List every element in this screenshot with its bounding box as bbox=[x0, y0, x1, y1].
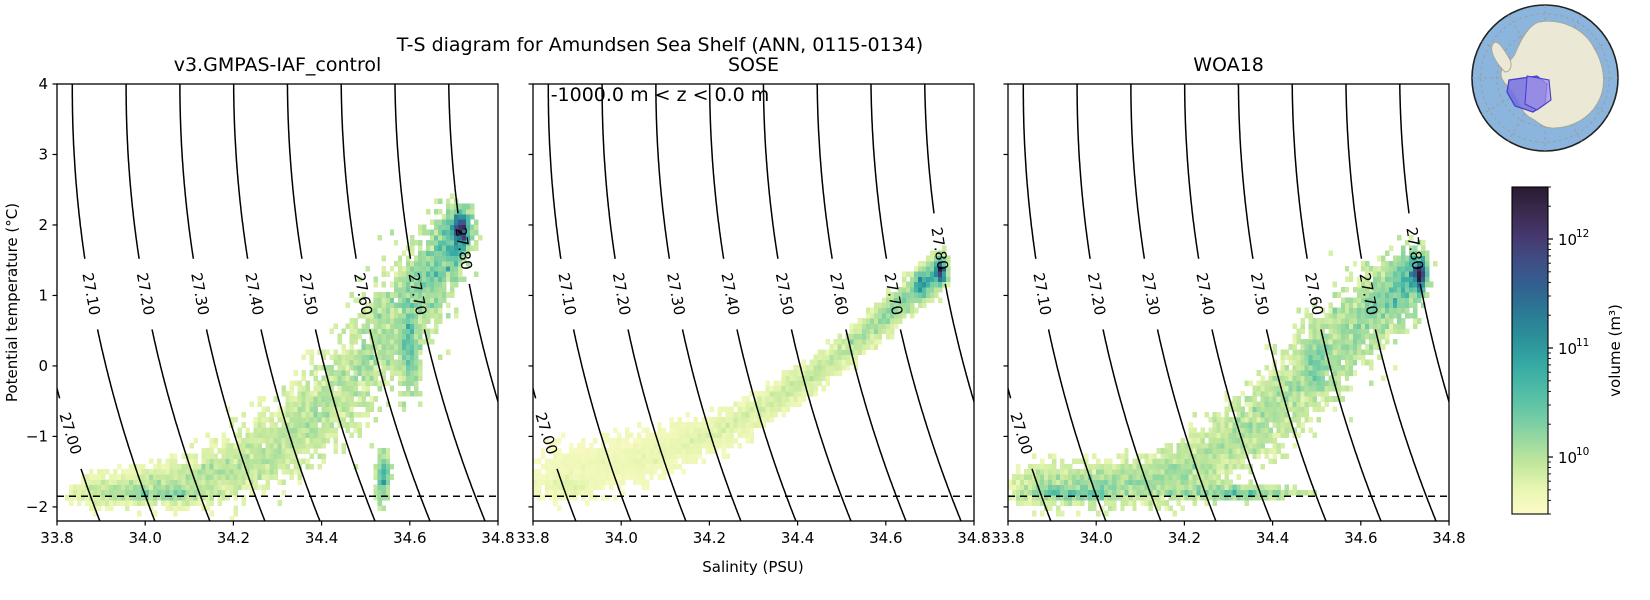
heatmap-cell bbox=[273, 427, 277, 433]
heatmap-cell bbox=[1397, 261, 1401, 267]
colorbar-tick-exponent: 11 bbox=[1576, 337, 1589, 349]
heatmap-cell bbox=[677, 417, 681, 423]
heatmap-cell bbox=[253, 417, 257, 423]
heatmap-cell bbox=[721, 453, 725, 459]
heatmap-cell bbox=[1176, 448, 1180, 454]
heatmap-cell bbox=[649, 474, 653, 480]
heatmap-cell bbox=[737, 412, 741, 418]
heatmap-cell bbox=[705, 448, 709, 454]
heatmap-cell bbox=[322, 412, 326, 418]
heatmap-cell bbox=[173, 479, 177, 485]
heatmap-cell bbox=[1293, 349, 1297, 355]
heatmap-cell bbox=[1265, 412, 1269, 418]
heatmap-cell bbox=[826, 355, 830, 361]
heatmap-cell bbox=[1345, 360, 1349, 366]
heatmap-cell bbox=[442, 224, 446, 230]
heatmap-cell bbox=[1084, 490, 1088, 496]
heatmap-cell bbox=[402, 297, 406, 303]
heatmap-cell bbox=[1008, 485, 1012, 491]
heatmap-cell bbox=[1425, 271, 1429, 277]
heatmap-cell bbox=[426, 318, 430, 324]
heatmap-cell bbox=[434, 209, 438, 215]
heatmap-cell bbox=[378, 490, 382, 496]
heatmap-cell bbox=[201, 485, 205, 491]
heatmap-cell bbox=[617, 443, 621, 449]
heatmap-cell bbox=[1345, 276, 1349, 282]
heatmap-cell bbox=[1297, 490, 1301, 496]
heatmap-cell bbox=[1229, 443, 1233, 449]
heatmap-cell bbox=[1241, 459, 1245, 465]
heatmap-cell bbox=[402, 375, 406, 381]
heatmap-cell bbox=[1204, 412, 1208, 418]
heatmap-cell bbox=[213, 469, 217, 475]
heatmap-cell bbox=[1329, 329, 1333, 335]
heatmap-cell bbox=[334, 438, 338, 444]
heatmap-cell bbox=[1337, 292, 1341, 298]
heatmap-cell bbox=[362, 349, 366, 355]
heatmap-cell bbox=[1188, 485, 1192, 491]
heatmap-cell bbox=[585, 469, 589, 475]
heatmap-cell bbox=[533, 479, 537, 485]
heatmap-cell bbox=[669, 464, 673, 470]
heatmap-cell bbox=[153, 511, 157, 517]
heatmap-cell bbox=[1273, 386, 1277, 392]
heatmap-cell bbox=[1425, 282, 1429, 288]
heatmap-cell bbox=[1301, 355, 1305, 361]
heatmap-cell bbox=[717, 427, 721, 433]
heatmap-cell bbox=[374, 474, 378, 480]
heatmap-cell bbox=[878, 313, 882, 319]
heatmap-cell bbox=[398, 287, 402, 293]
heatmap-cell bbox=[858, 329, 862, 335]
heatmap-cell bbox=[790, 391, 794, 397]
heatmap-cell bbox=[350, 401, 354, 407]
contour-line bbox=[506, 158, 507, 165]
heatmap-cell bbox=[217, 485, 221, 491]
heatmap-cell bbox=[910, 292, 914, 298]
heatmap-cell bbox=[1305, 313, 1309, 319]
heatmap-cell bbox=[1321, 365, 1325, 371]
heatmap-cell bbox=[257, 417, 261, 423]
heatmap-cell bbox=[1285, 349, 1289, 355]
heatmap-cell bbox=[1265, 344, 1269, 350]
heatmap-cell bbox=[914, 271, 918, 277]
heatmap-cell bbox=[557, 490, 561, 496]
heatmap-cell bbox=[1269, 459, 1273, 465]
heatmap-cell bbox=[862, 318, 866, 324]
heatmap-cell bbox=[458, 214, 462, 220]
heatmap-cell bbox=[1273, 349, 1277, 355]
heatmap-cell bbox=[782, 407, 786, 413]
heatmap-cell bbox=[1212, 485, 1216, 491]
heatmap-cell bbox=[201, 469, 205, 475]
heatmap-cell bbox=[434, 303, 438, 309]
heatmap-cell bbox=[1204, 479, 1208, 485]
heatmap-cell bbox=[346, 360, 350, 366]
heatmap-cell bbox=[709, 422, 713, 428]
heatmap-cell bbox=[382, 339, 386, 345]
heatmap-cell bbox=[77, 490, 81, 496]
heatmap-cell bbox=[1212, 490, 1216, 496]
heatmap-cell bbox=[677, 443, 681, 449]
heatmap-cell bbox=[733, 401, 737, 407]
heatmap-cell bbox=[253, 438, 257, 444]
heatmap-cell bbox=[846, 355, 850, 361]
heatmap-cell bbox=[1269, 490, 1273, 496]
heatmap-cell bbox=[422, 318, 426, 324]
heatmap-cell bbox=[161, 464, 165, 470]
heatmap-cell bbox=[1257, 412, 1261, 418]
heatmap-cell bbox=[278, 417, 282, 423]
heatmap-cell bbox=[241, 438, 245, 444]
heatmap-cell bbox=[601, 495, 605, 501]
heatmap-cell bbox=[450, 256, 454, 262]
heatmap-cell bbox=[1361, 334, 1365, 340]
heatmap-cell bbox=[1072, 459, 1076, 465]
heatmap-cell bbox=[302, 427, 306, 433]
heatmap-cell bbox=[645, 479, 649, 485]
heatmap-cell bbox=[1233, 427, 1237, 433]
heatmap-cell bbox=[697, 453, 701, 459]
heatmap-cell bbox=[665, 443, 669, 449]
heatmap-cell bbox=[1156, 490, 1160, 496]
heatmap-cell bbox=[1261, 443, 1265, 449]
heatmap-cell bbox=[362, 375, 366, 381]
heatmap-cell bbox=[338, 375, 342, 381]
heatmap-cell bbox=[1120, 490, 1124, 496]
heatmap-cell bbox=[1224, 422, 1228, 428]
heatmap-cell bbox=[573, 474, 577, 480]
heatmap-cell bbox=[169, 474, 173, 480]
heatmap-cell bbox=[697, 422, 701, 428]
heatmap-cell bbox=[589, 464, 593, 470]
heatmap-cell bbox=[390, 266, 394, 272]
heatmap-cell bbox=[1204, 443, 1208, 449]
heatmap-cell bbox=[573, 479, 577, 485]
heatmap-cell bbox=[818, 349, 822, 355]
heatmap-cell bbox=[1104, 500, 1108, 506]
heatmap-cell bbox=[1088, 490, 1092, 496]
heatmap-cell bbox=[1084, 479, 1088, 485]
heatmap-cell bbox=[322, 381, 326, 387]
heatmap-cell bbox=[81, 485, 85, 491]
heatmap-cell bbox=[318, 381, 322, 387]
heatmap-cell bbox=[1220, 490, 1224, 496]
heatmap-cell bbox=[946, 276, 950, 282]
heatmap-cell bbox=[629, 469, 633, 475]
heatmap-cell bbox=[221, 459, 225, 465]
heatmap-cell bbox=[1253, 386, 1257, 392]
heatmap-cell bbox=[1321, 349, 1325, 355]
heatmap-cell bbox=[366, 412, 370, 418]
heatmap-cell bbox=[101, 495, 105, 501]
heatmap-cell bbox=[446, 276, 450, 282]
heatmap-cell bbox=[866, 308, 870, 314]
heatmap-cell bbox=[1313, 329, 1317, 335]
heatmap-cell bbox=[269, 438, 273, 444]
heatmap-cell bbox=[374, 490, 378, 496]
heatmap-cell bbox=[830, 365, 834, 371]
heatmap-cell bbox=[733, 427, 737, 433]
heatmap-cell bbox=[770, 391, 774, 397]
heatmap-cell bbox=[426, 266, 430, 272]
heatmap-cell bbox=[1116, 474, 1120, 480]
heatmap-cell bbox=[173, 490, 177, 496]
heatmap-cell bbox=[1168, 490, 1172, 496]
heatmap-cell bbox=[406, 349, 410, 355]
heatmap-cell bbox=[1309, 391, 1313, 397]
heatmap-cell bbox=[1341, 318, 1345, 324]
heatmap-cell bbox=[1265, 391, 1269, 397]
heatmap-cell bbox=[569, 443, 573, 449]
heatmap-cell bbox=[770, 401, 774, 407]
heatmap-cell bbox=[253, 459, 257, 465]
heatmap-cell bbox=[386, 448, 390, 454]
heatmap-cell bbox=[1409, 313, 1413, 319]
heatmap-cell bbox=[1253, 401, 1257, 407]
heatmap-cell bbox=[1289, 407, 1293, 413]
heatmap-cell bbox=[725, 427, 729, 433]
heatmap-cell bbox=[1381, 297, 1385, 303]
heatmap-cell bbox=[1132, 500, 1136, 506]
heatmap-cell bbox=[1353, 370, 1357, 376]
heatmap-cell bbox=[822, 370, 826, 376]
heatmap-cell bbox=[454, 271, 458, 277]
heatmap-cell bbox=[125, 474, 129, 480]
heatmap-cell bbox=[438, 318, 442, 324]
heatmap-cell bbox=[1349, 323, 1353, 329]
heatmap-cell bbox=[318, 391, 322, 397]
heatmap-cell bbox=[221, 464, 225, 470]
heatmap-cell bbox=[1100, 469, 1104, 475]
heatmap-cell bbox=[1281, 427, 1285, 433]
heatmap-cell bbox=[557, 505, 561, 511]
heatmap-cell bbox=[1345, 334, 1349, 340]
heatmap-cell bbox=[69, 485, 73, 491]
heatmap-cell bbox=[314, 396, 318, 402]
heatmap-cell bbox=[625, 438, 629, 444]
heatmap-cell bbox=[621, 479, 625, 485]
heatmap-cell bbox=[922, 271, 926, 277]
heatmap-cell bbox=[1152, 453, 1156, 459]
heatmap-cell bbox=[1076, 485, 1080, 491]
heatmap-cell bbox=[1245, 412, 1249, 418]
heatmap-cell bbox=[438, 355, 442, 361]
x-tick-label: 34.4 bbox=[305, 529, 338, 547]
heatmap-cell bbox=[565, 474, 569, 480]
heatmap-cell bbox=[1369, 323, 1373, 329]
heatmap-cell bbox=[1068, 464, 1072, 470]
heatmap-cell bbox=[589, 490, 593, 496]
heatmap-cell bbox=[838, 334, 842, 340]
heatmap-cell bbox=[818, 365, 822, 371]
heatmap-cell bbox=[786, 391, 790, 397]
heatmap-cell bbox=[442, 261, 446, 267]
heatmap-cell bbox=[125, 485, 129, 491]
heatmap-cell bbox=[286, 407, 290, 413]
heatmap-cell bbox=[1261, 427, 1265, 433]
heatmap-cell bbox=[394, 287, 398, 293]
heatmap-cell bbox=[858, 344, 862, 350]
heatmap-cell bbox=[278, 438, 282, 444]
heatmap-cell bbox=[810, 360, 814, 366]
heatmap-cell bbox=[257, 459, 261, 465]
heatmap-cell bbox=[1385, 318, 1389, 324]
heatmap-cell bbox=[1361, 323, 1365, 329]
heatmap-cell bbox=[225, 479, 229, 485]
heatmap-cell bbox=[370, 365, 374, 371]
heatmap-cell bbox=[1273, 417, 1277, 423]
heatmap-cell bbox=[374, 329, 378, 335]
heatmap-cell bbox=[394, 339, 398, 345]
heatmap-cell bbox=[253, 469, 257, 475]
heatmap-cell bbox=[1180, 459, 1184, 465]
heatmap-cell bbox=[346, 323, 350, 329]
heatmap-cell bbox=[1088, 505, 1092, 511]
heatmap-cell bbox=[1168, 459, 1172, 465]
heatmap-cell bbox=[1060, 474, 1064, 480]
heatmap-cell bbox=[221, 469, 225, 475]
heatmap-cell bbox=[697, 443, 701, 449]
heatmap-cell bbox=[89, 469, 93, 475]
heatmap-cell bbox=[926, 266, 930, 272]
heatmap-cell bbox=[450, 214, 454, 220]
heatmap-cell bbox=[314, 375, 318, 381]
heatmap-cell bbox=[338, 401, 342, 407]
heatmap-cell bbox=[1377, 256, 1381, 262]
heatmap-cell bbox=[665, 459, 669, 465]
heatmap-cell bbox=[717, 433, 721, 439]
heatmap-cell bbox=[790, 381, 794, 387]
heatmap-cell bbox=[290, 453, 294, 459]
heatmap-cell bbox=[573, 469, 577, 475]
heatmap-cell bbox=[1132, 485, 1136, 491]
heatmap-cell bbox=[470, 214, 474, 220]
heatmap-cell bbox=[557, 485, 561, 491]
heatmap-cell bbox=[286, 401, 290, 407]
heatmap-cell bbox=[1269, 396, 1273, 402]
heatmap-cell bbox=[290, 427, 294, 433]
heatmap-cell bbox=[294, 381, 298, 387]
heatmap-cell bbox=[265, 469, 269, 475]
heatmap-cell bbox=[113, 474, 117, 480]
heatmap-cell bbox=[661, 438, 665, 444]
heatmap-cell bbox=[382, 271, 386, 277]
heatmap-cell bbox=[306, 401, 310, 407]
heatmap-cell bbox=[1084, 474, 1088, 480]
heatmap-cell bbox=[350, 391, 354, 397]
heatmap-cell bbox=[406, 323, 410, 329]
heatmap-cell bbox=[1413, 282, 1417, 288]
heatmap-cell bbox=[1389, 245, 1393, 251]
heatmap-cell bbox=[737, 407, 741, 413]
heatmap-cell bbox=[1168, 474, 1172, 480]
heatmap-cell bbox=[386, 349, 390, 355]
heatmap-cell bbox=[1289, 490, 1293, 496]
heatmap-cell bbox=[394, 334, 398, 340]
heatmap-cell bbox=[818, 370, 822, 376]
heatmap-cell bbox=[1333, 355, 1337, 361]
colorbar[interactable]: 101010111012volume (m³) bbox=[1512, 187, 1624, 514]
heatmap-cell bbox=[446, 313, 450, 319]
heatmap-cell bbox=[350, 396, 354, 402]
heatmap-cell bbox=[205, 485, 209, 491]
heatmap-cell bbox=[762, 407, 766, 413]
heatmap-cell bbox=[233, 459, 237, 465]
heatmap-cell bbox=[597, 479, 601, 485]
heatmap-cell bbox=[1277, 412, 1281, 418]
heatmap-cell bbox=[918, 292, 922, 298]
heatmap-cell bbox=[434, 240, 438, 246]
heatmap-cell bbox=[462, 204, 466, 210]
heatmap-cell bbox=[1196, 438, 1200, 444]
heatmap-cell bbox=[374, 485, 378, 491]
heatmap-cell bbox=[882, 303, 886, 309]
heatmap-cell bbox=[474, 245, 478, 251]
heatmap-cell bbox=[1321, 391, 1325, 397]
heatmap-cell bbox=[269, 427, 273, 433]
heatmap-cell bbox=[430, 235, 434, 241]
heatmap-cell bbox=[1365, 323, 1369, 329]
heatmap-cell bbox=[298, 381, 302, 387]
heatmap-cell bbox=[1132, 464, 1136, 470]
heatmap-cell bbox=[1389, 297, 1393, 303]
heatmap-cell bbox=[613, 427, 617, 433]
heatmap-cell bbox=[221, 438, 225, 444]
contour-line bbox=[1457, 158, 1458, 165]
heatmap-cell bbox=[310, 453, 314, 459]
heatmap-cell bbox=[1421, 271, 1425, 277]
heatmap-cell bbox=[382, 505, 386, 511]
heatmap-cell bbox=[645, 448, 649, 454]
heatmap-cell bbox=[585, 490, 589, 496]
heatmap-cell bbox=[1104, 511, 1108, 517]
heatmap-cell bbox=[430, 250, 434, 256]
heatmap-cell bbox=[1253, 422, 1257, 428]
heatmap-cell bbox=[1112, 469, 1116, 475]
heatmap-cell bbox=[1353, 349, 1357, 355]
heatmap-cell bbox=[870, 344, 874, 350]
heatmap-cell bbox=[1285, 391, 1289, 397]
heatmap-cell bbox=[637, 448, 641, 454]
heatmap-cell bbox=[394, 344, 398, 350]
heatmap-cell bbox=[1040, 511, 1044, 517]
heatmap-cell bbox=[1164, 485, 1168, 491]
heatmap-cell bbox=[794, 401, 798, 407]
heatmap-cell bbox=[358, 360, 362, 366]
heatmap-cell bbox=[886, 334, 890, 340]
heatmap-cell bbox=[1144, 500, 1148, 506]
heatmap-cell bbox=[402, 360, 406, 366]
heatmap-cell bbox=[749, 417, 753, 423]
heatmap-cell bbox=[786, 401, 790, 407]
heatmap-cell bbox=[942, 271, 946, 277]
heatmap-cell bbox=[589, 474, 593, 480]
heatmap-cell bbox=[1080, 490, 1084, 496]
heatmap-cell bbox=[766, 412, 770, 418]
heatmap-cell bbox=[613, 459, 617, 465]
heatmap-cell bbox=[213, 443, 217, 449]
heatmap-cell bbox=[826, 375, 830, 381]
heatmap-cell bbox=[1337, 329, 1341, 335]
heatmap-cell bbox=[1176, 459, 1180, 465]
heatmap-cell bbox=[1309, 360, 1313, 366]
heatmap-cell bbox=[874, 303, 878, 309]
heatmap-cell bbox=[434, 250, 438, 256]
heatmap-cell bbox=[1253, 412, 1257, 418]
heatmap-cell bbox=[382, 344, 386, 350]
heatmap-cell bbox=[378, 479, 382, 485]
